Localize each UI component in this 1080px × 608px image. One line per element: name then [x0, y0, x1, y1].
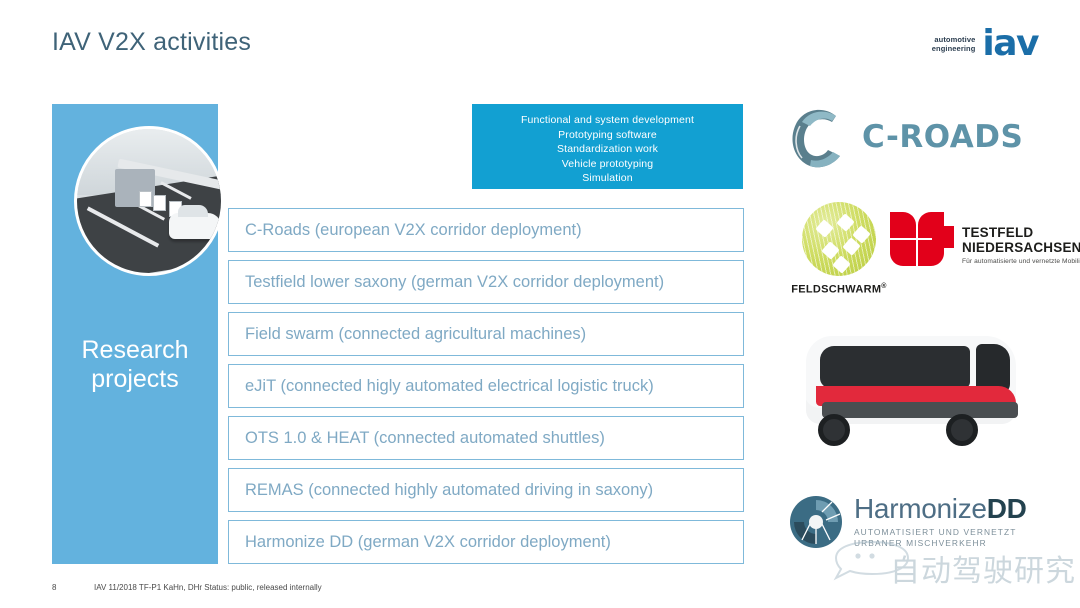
autonomous-shuttle-bus-photo: [796, 324, 1034, 444]
testfeld-niedersachsen-logo: TESTFELD NIEDERSACHSEN Für automatisiert…: [890, 208, 1080, 274]
photo-road-sign: [139, 191, 152, 207]
harmonizedd-subtitle-line2: URBANER MISCHVERKEHR: [854, 538, 1027, 549]
shuttle-skirt: [822, 402, 1018, 418]
photo-road-sign: [153, 195, 166, 211]
shuttle-wheel: [818, 414, 850, 446]
project-row[interactable]: eJiT (connected higly automated electric…: [228, 364, 744, 408]
harmonizedd-text-block: HarmonizeDD AUTOMATISIERT UND VERNETZT U…: [854, 495, 1027, 549]
croads-c-icon: [786, 104, 848, 170]
feldschwarm-wordmark: FELDSCHWARM®: [784, 283, 894, 296]
capability-line: Standardization work: [472, 142, 743, 157]
page-number: 8: [52, 583, 94, 592]
feldschwarm-trademark: ®: [881, 283, 886, 290]
testfeld-mark-icon: [890, 208, 956, 274]
project-row[interactable]: Harmonize DD (german V2X corridor deploy…: [228, 520, 744, 564]
harmonizedd-subtitle-line1: AUTOMATISIERT UND VERNETZT: [854, 527, 1027, 538]
feldschwarm-sphere-icon: [802, 202, 876, 276]
project-row[interactable]: OTS 1.0 & HEAT (connected automated shut…: [228, 416, 744, 460]
harmonizedd-name-bold: DD: [987, 493, 1027, 524]
shuttle-body: [806, 336, 1016, 424]
project-row[interactable]: C-Roads (european V2X corridor deploymen…: [228, 208, 744, 252]
panel-label: Research projects: [52, 336, 218, 394]
testfeld-text-block: TESTFELD NIEDERSACHSEN Für automatisiert…: [962, 208, 1080, 265]
iav-tagline-line1: automotive: [932, 35, 976, 44]
croads-logo: C-ROADS: [786, 104, 1023, 170]
project-list: C-Roads (european V2X corridor deploymen…: [228, 208, 744, 572]
feldschwarm-logo: FELDSCHWARM®: [784, 202, 894, 296]
iav-tagline-line2: engineering: [932, 44, 976, 53]
research-projects-panel: Research projects: [52, 104, 218, 564]
slide-root: IAV V2X activities automotive engineerin…: [0, 0, 1080, 608]
capability-line: Prototyping software: [472, 128, 743, 143]
testfeld-name-line2: NIEDERSACHSEN: [962, 241, 1080, 256]
capability-line: Simulation: [472, 171, 743, 186]
shuttle-wheel: [946, 414, 978, 446]
footer-info: IAV 11/2018 TF-P1 KaHn, DHr Status: publ…: [94, 583, 322, 592]
shuttle-side-window: [820, 346, 970, 388]
page-title: IAV V2X activities: [52, 28, 251, 57]
project-row[interactable]: Testfield lower saxony (german V2X corri…: [228, 260, 744, 304]
project-row[interactable]: Field swarm (connected agricultural mach…: [228, 312, 744, 356]
capability-box: Functional and system development Protot…: [472, 104, 743, 189]
slide-footer: 8 IAV 11/2018 TF-P1 KaHn, DHr Status: pu…: [52, 583, 322, 592]
harmonizedd-wordmark: HarmonizeDD: [854, 495, 1027, 523]
partner-logo-column: C-ROADS FELDSCHWARM®: [778, 96, 1046, 566]
photo-car: [169, 213, 221, 239]
capability-line: Vehicle prototyping: [472, 157, 743, 172]
iav-logo-tagline: automotive engineering: [932, 35, 976, 53]
iav-logo: automotive engineering iav: [932, 28, 1038, 60]
harmonizedd-swirl-icon: [788, 494, 844, 550]
project-row[interactable]: REMAS (connected highly automated drivin…: [228, 468, 744, 512]
harmonizedd-subtitle: AUTOMATISIERT UND VERNETZT URBANER MISCH…: [854, 527, 1027, 549]
capability-line: Functional and system development: [472, 113, 743, 128]
testfeld-name-line1: TESTFELD: [962, 226, 1080, 241]
feldschwarm-name: FELDSCHWARM: [791, 284, 881, 296]
highway-v2x-scene-photo: [74, 126, 224, 276]
harmonizedd-name-light: Harmonize: [854, 493, 987, 524]
croads-wordmark: C-ROADS: [862, 119, 1023, 155]
harmonizedd-logo: HarmonizeDD AUTOMATISIERT UND VERNETZT U…: [788, 494, 1027, 550]
iav-wordmark: iav: [982, 28, 1038, 60]
testfeld-subtitle: Für automatisierte und vernetzte Mobilit…: [962, 258, 1080, 265]
